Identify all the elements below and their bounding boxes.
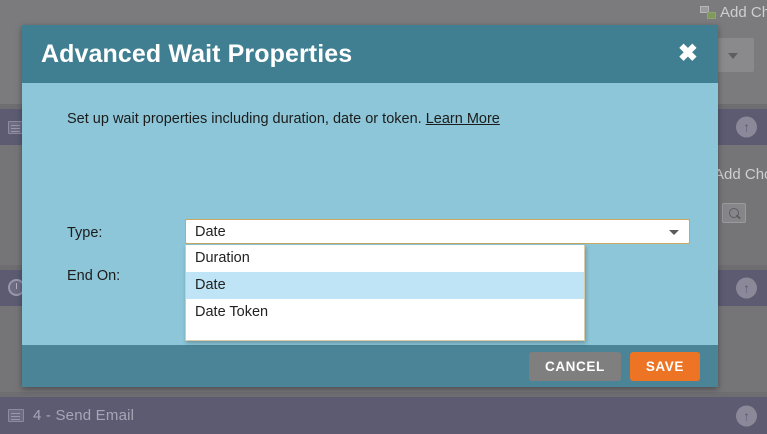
dialog-description: Set up wait properties including duratio… [67, 111, 500, 127]
advanced-wait-properties-dialog: Advanced Wait Properties ✖ Set up wait p… [22, 25, 718, 387]
dialog-title: Advanced Wait Properties [41, 40, 352, 69]
hierarchy-icon [700, 6, 715, 18]
dialog-body: Set up wait properties including duratio… [22, 83, 718, 345]
type-select[interactable]: Date [185, 219, 690, 244]
type-dropdown-list[interactable]: Duration Date Date Token [185, 245, 585, 341]
add-choice-mid[interactable]: Add Choice [714, 166, 767, 183]
background-dropdown-button-top[interactable] [712, 38, 754, 72]
add-choice-top[interactable]: Add Choice [700, 4, 767, 21]
type-select-value: Date [195, 224, 226, 240]
search-button[interactable] [722, 203, 746, 223]
up-arrow-icon[interactable]: ↑ [736, 278, 757, 299]
close-icon[interactable]: ✖ [678, 42, 698, 66]
mail-icon [8, 409, 24, 422]
learn-more-link[interactable]: Learn More [426, 111, 500, 127]
type-field-label: Type: [67, 225, 102, 241]
chevron-down-icon [669, 230, 679, 235]
dialog-header: Advanced Wait Properties ✖ [22, 25, 718, 83]
up-arrow-icon[interactable]: ↑ [736, 405, 757, 426]
dropdown-option-duration[interactable]: Duration [186, 245, 584, 272]
dialog-description-text: Set up wait properties including duratio… [67, 111, 426, 127]
up-arrow-icon[interactable]: ↑ [736, 117, 757, 138]
end-on-field-label: End On: [67, 268, 120, 284]
add-choice-mid-label: Add Choice [714, 166, 767, 183]
background-row-3-label: 4 - Send Email [33, 407, 134, 424]
dropdown-option-date-token[interactable]: Date Token [186, 299, 584, 326]
screen: Add Choice ↑ Add Choice ↑ 4 - Send E [0, 0, 767, 434]
cancel-button[interactable]: CANCEL [529, 352, 621, 381]
save-button[interactable]: SAVE [630, 352, 700, 381]
add-choice-top-label: Add Choice [720, 4, 767, 21]
dropdown-option-date[interactable]: Date [186, 272, 584, 299]
dialog-footer: CANCEL SAVE [22, 345, 718, 387]
background-row-3[interactable]: 4 - Send Email ↑ [0, 397, 767, 434]
